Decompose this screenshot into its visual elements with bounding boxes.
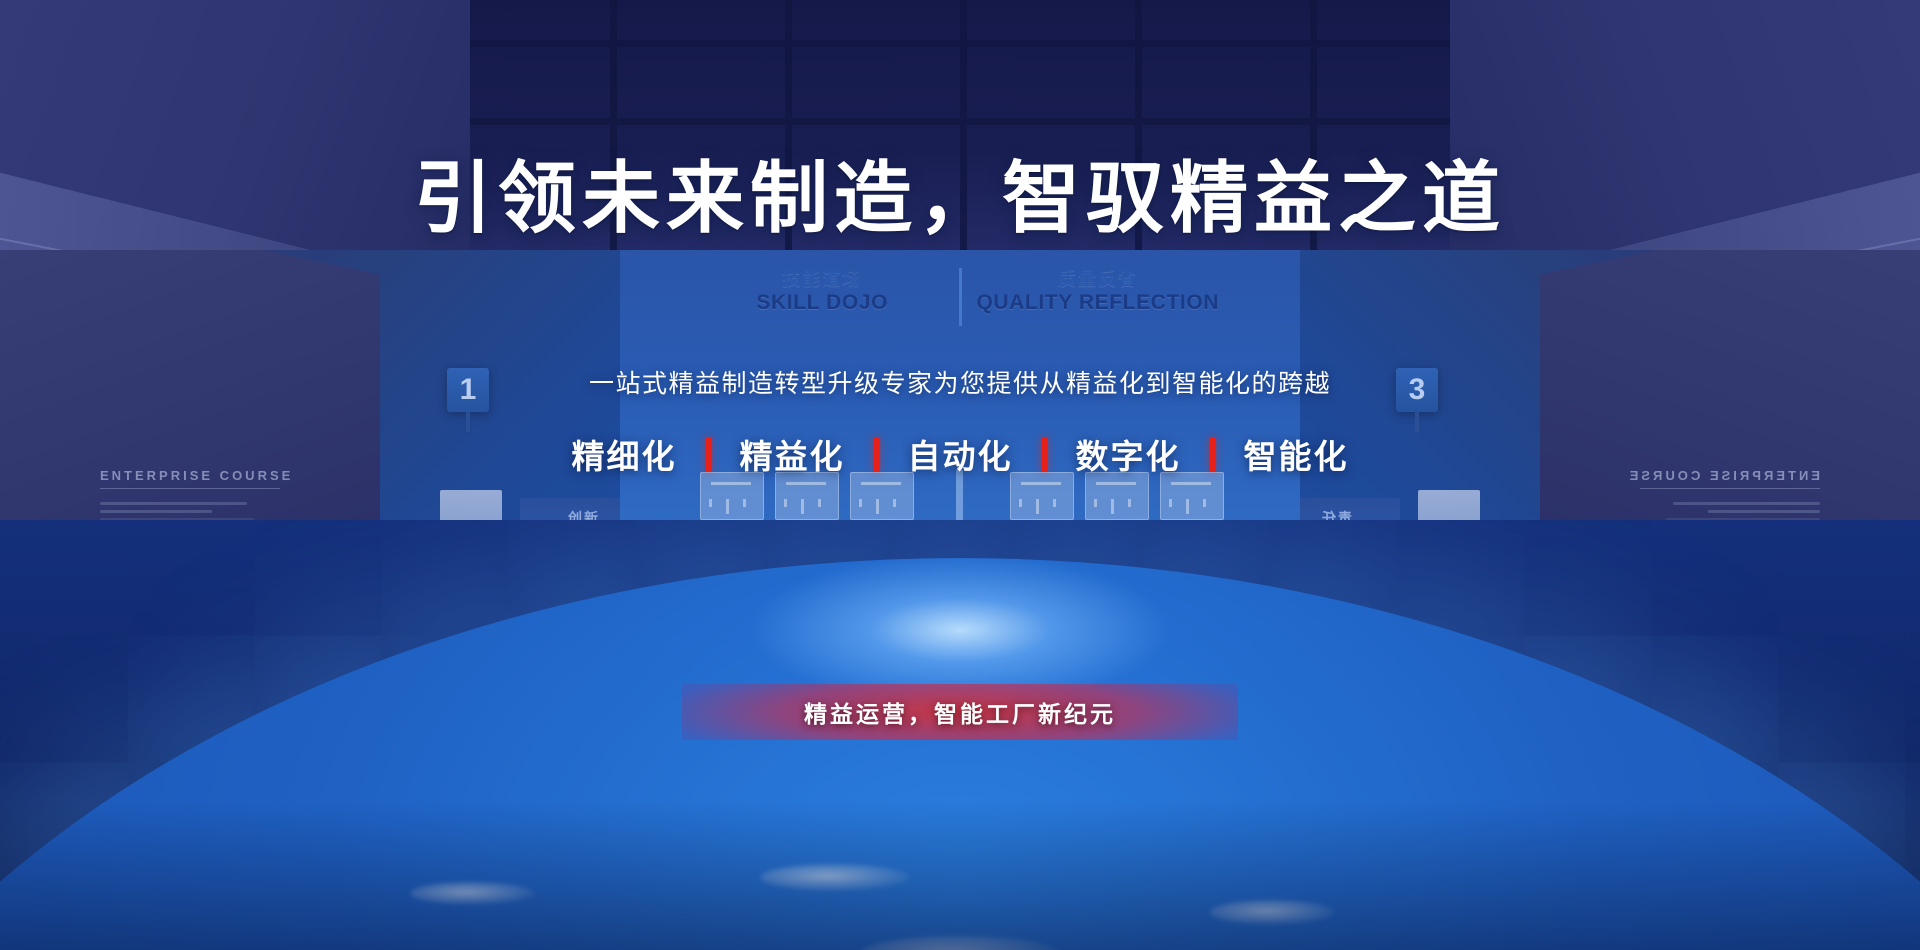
keyword-separator bbox=[873, 437, 880, 471]
hero-banner: ENTERPRISE COURSE 创新 GEMANT DOGO bbox=[0, 0, 1920, 950]
keyword-list: 精细化精益化自动化数字化智能化 bbox=[0, 430, 1920, 478]
keyword-item: 数字化 bbox=[1060, 430, 1197, 478]
keyword-item: 自动化 bbox=[892, 430, 1029, 478]
hero-content: 引领未来制造，智驭精益之道 一站式精益制造转型升级专家为您提供从精益化到智能化的… bbox=[0, 0, 1920, 950]
keyword-item: 精益化 bbox=[724, 430, 861, 478]
keyword-separator bbox=[1041, 437, 1048, 471]
bottom-banner-text: 精益运营，智能工厂新纪元 bbox=[804, 695, 1116, 729]
page-subtitle: 一站式精益制造转型升级专家为您提供从精益化到智能化的跨越 bbox=[0, 366, 1920, 402]
keyword-separator bbox=[1209, 437, 1216, 471]
keyword-item: 精细化 bbox=[556, 430, 693, 478]
bottom-banner: 精益运营，智能工厂新纪元 bbox=[682, 684, 1238, 740]
keyword-item: 智能化 bbox=[1228, 430, 1365, 478]
page-title: 引领未来制造，智驭精益之道 bbox=[0, 150, 1920, 246]
keyword-separator bbox=[705, 437, 712, 471]
